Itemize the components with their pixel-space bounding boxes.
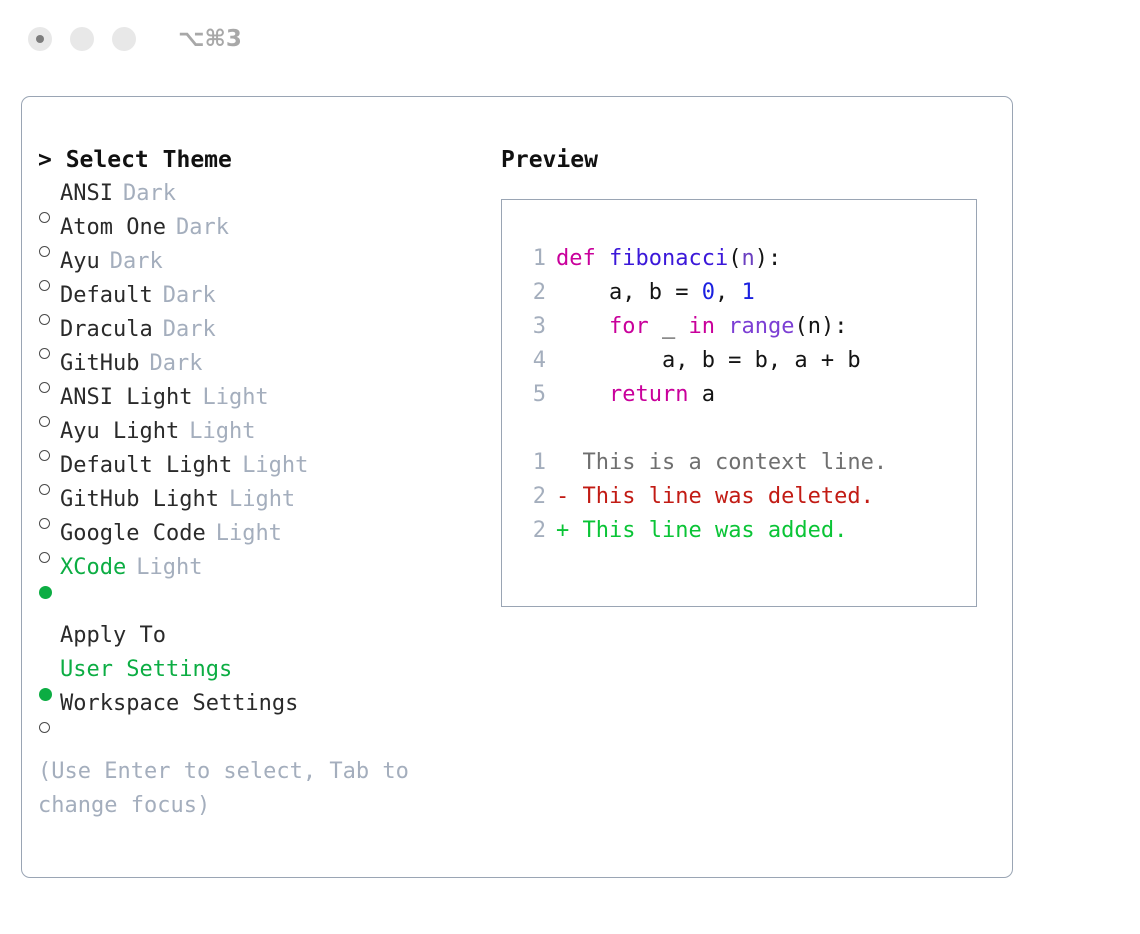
diff-text: This line was added. (569, 518, 847, 543)
line-number: 2 (520, 480, 546, 514)
theme-option-default[interactable]: DefaultDark (38, 279, 478, 313)
preview-column: Preview 1def fibonacci(n):2 a, b = 0, 13… (501, 143, 991, 607)
code-diff-spacer (520, 412, 976, 446)
line-number: 1 (520, 242, 546, 276)
code-token-num: 1 (741, 280, 754, 305)
diff-line-ctx: 1 This is a context line. (520, 446, 976, 480)
theme-option-label: Ayu (60, 245, 100, 279)
code-line-content: def fibonacci(n): (556, 242, 781, 276)
code-token-plain: (n): (794, 314, 847, 339)
theme-option-label: Default (60, 279, 153, 313)
radio-dot-filled (39, 586, 52, 599)
code-token-plain (596, 246, 609, 271)
code-token-plain: a, b = b, a + b (556, 348, 861, 373)
radio-dot-ring (39, 416, 50, 427)
window-dot-active[interactable] (28, 27, 52, 51)
diff-sign: + (556, 518, 569, 543)
theme-option-ayu[interactable]: AyuDark (38, 245, 478, 279)
theme-option-label: GitHub (60, 347, 139, 381)
diff-line-content: This is a context line. (556, 446, 887, 480)
code-line: 4 a, b = b, a + b (520, 344, 976, 378)
theme-option-label: Dracula (60, 313, 153, 347)
window-controls (28, 27, 136, 51)
theme-option-ansi[interactable]: ANSIDark (38, 177, 478, 211)
diff-line-del: 2- This line was deleted. (520, 480, 976, 514)
theme-variant-badge: Dark (123, 177, 176, 211)
window-dot-third[interactable] (112, 27, 136, 51)
code-token-kw: in (688, 314, 715, 339)
radio-dot-ring (39, 552, 50, 563)
diff-line-content: - This line was deleted. (556, 480, 874, 514)
theme-option-label: Google Code (60, 517, 206, 551)
window-titlebar: ⌥⌘3 (0, 0, 1140, 78)
keyboard-shortcut-label: ⌥⌘3 (178, 26, 242, 52)
code-token-param: n (741, 246, 754, 271)
theme-selection-column: > Select Theme ANSIDarkAtom OneDarkAyuDa… (38, 143, 478, 823)
diff-sample: 1 This is a context line.2- This line wa… (520, 446, 976, 548)
code-line: 5 return a (520, 378, 976, 412)
radio-dot-ring (39, 280, 50, 291)
theme-option-label: Atom One (60, 211, 166, 245)
code-line-content: for _ in range(n): (556, 310, 847, 344)
select-theme-heading: > Select Theme (38, 143, 478, 177)
line-number: 3 (520, 310, 546, 344)
code-line-content: a, b = b, a + b (556, 344, 861, 378)
theme-variant-badge: Dark (176, 211, 229, 245)
diff-text: This is a context line. (569, 450, 887, 475)
code-token-plain: ): (755, 246, 782, 271)
diff-sign: - (556, 484, 569, 509)
preview-heading: Preview (501, 143, 991, 177)
code-token-kw: def (556, 246, 596, 271)
line-number: 5 (520, 378, 546, 412)
code-token-plain: _ (649, 314, 689, 339)
radio-dot-ring (39, 382, 50, 393)
theme-option-dracula[interactable]: DraculaDark (38, 313, 478, 347)
radio-dot-ring (39, 212, 50, 223)
code-token-plain: , (715, 280, 742, 305)
theme-variant-badge: Light (202, 381, 268, 415)
radio-dot-ring (39, 484, 50, 495)
code-token-plain (556, 382, 609, 407)
line-number: 4 (520, 344, 546, 378)
code-sample: 1def fibonacci(n):2 a, b = 0, 13 for _ i… (520, 242, 976, 412)
radio-dot-ring (39, 450, 50, 461)
theme-variant-badge: Dark (149, 347, 202, 381)
theme-variant-badge: Dark (163, 279, 216, 313)
radio-dot-ring (39, 722, 50, 733)
window-dot-inner (36, 35, 44, 43)
code-token-builtin: range (728, 314, 794, 339)
theme-variant-badge: Light (229, 483, 295, 517)
code-token-plain: ( (728, 246, 741, 271)
apply-to-option-workspace-settings[interactable]: Workspace Settings (38, 687, 478, 721)
theme-option-ansi-light[interactable]: ANSI LightLight (38, 381, 478, 415)
apply-to-option-user-settings[interactable]: User Settings (38, 653, 478, 687)
radio-dot-ring (39, 348, 50, 359)
theme-option-atom-one[interactable]: Atom OneDark (38, 211, 478, 245)
code-line: 2 a, b = 0, 1 (520, 276, 976, 310)
preview-code-box: 1def fibonacci(n):2 a, b = 0, 13 for _ i… (501, 199, 977, 607)
theme-option-label: GitHub Light (60, 483, 219, 517)
code-token-num: 0 (702, 280, 715, 305)
apply-to-option-label: Workspace Settings (60, 687, 298, 721)
radio-dot-filled (39, 688, 52, 701)
code-token-plain (556, 314, 609, 339)
theme-variant-badge: Light (136, 551, 202, 585)
theme-variant-badge: Light (189, 415, 255, 449)
diff-line-content: + This line was added. (556, 514, 847, 548)
line-number: 2 (520, 276, 546, 310)
theme-variant-badge: Light (242, 449, 308, 483)
theme-variant-badge: Dark (110, 245, 163, 279)
theme-option-github-light[interactable]: GitHub LightLight (38, 483, 478, 517)
code-token-kw: for (609, 314, 649, 339)
theme-option-ayu-light[interactable]: Ayu LightLight (38, 415, 478, 449)
code-line-content: return a (556, 378, 715, 412)
code-line-content: a, b = 0, 1 (556, 276, 755, 310)
theme-option-label: XCode (60, 551, 126, 585)
radio-dot-ring (39, 246, 50, 257)
radio-dot-ring (39, 314, 50, 325)
theme-variant-badge: Dark (163, 313, 216, 347)
theme-option-default-light[interactable]: Default LightLight (38, 449, 478, 483)
code-token-plain (715, 314, 728, 339)
theme-option-google-code[interactable]: Google CodeLight (38, 517, 478, 551)
line-number: 1 (520, 446, 546, 480)
diff-text: This line was deleted. (569, 484, 874, 509)
window-dot-second[interactable] (70, 27, 94, 51)
apply-to-heading: Apply To (38, 619, 478, 653)
code-token-plain: a, b = (556, 280, 702, 305)
line-number: 2 (520, 514, 546, 548)
theme-option-xcode[interactable]: XCodeLight (38, 551, 478, 585)
apply-to-list: User SettingsWorkspace Settings (38, 653, 478, 721)
code-token-plain: a (688, 382, 715, 407)
diff-line-add: 2+ This line was added. (520, 514, 976, 548)
keyboard-hint: (Use Enter to select, Tab to change focu… (38, 755, 448, 823)
section-spacer (38, 585, 478, 619)
code-line: 3 for _ in range(n): (520, 310, 976, 344)
radio-dot-ring (39, 518, 50, 529)
diff-sign (556, 450, 569, 475)
theme-option-label: ANSI (60, 177, 113, 211)
theme-list: ANSIDarkAtom OneDarkAyuDarkDefaultDarkDr… (38, 177, 478, 585)
code-token-fn: fibonacci (609, 246, 728, 271)
theme-option-label: Ayu Light (60, 415, 179, 449)
code-line: 1def fibonacci(n): (520, 242, 976, 276)
theme-picker-panel: > Select Theme ANSIDarkAtom OneDarkAyuDa… (21, 96, 1013, 878)
apply-to-option-label: User Settings (60, 653, 232, 687)
theme-option-github[interactable]: GitHubDark (38, 347, 478, 381)
code-token-kw: return (609, 382, 688, 407)
theme-option-label: Default Light (60, 449, 232, 483)
theme-variant-badge: Light (216, 517, 282, 551)
theme-option-label: ANSI Light (60, 381, 192, 415)
